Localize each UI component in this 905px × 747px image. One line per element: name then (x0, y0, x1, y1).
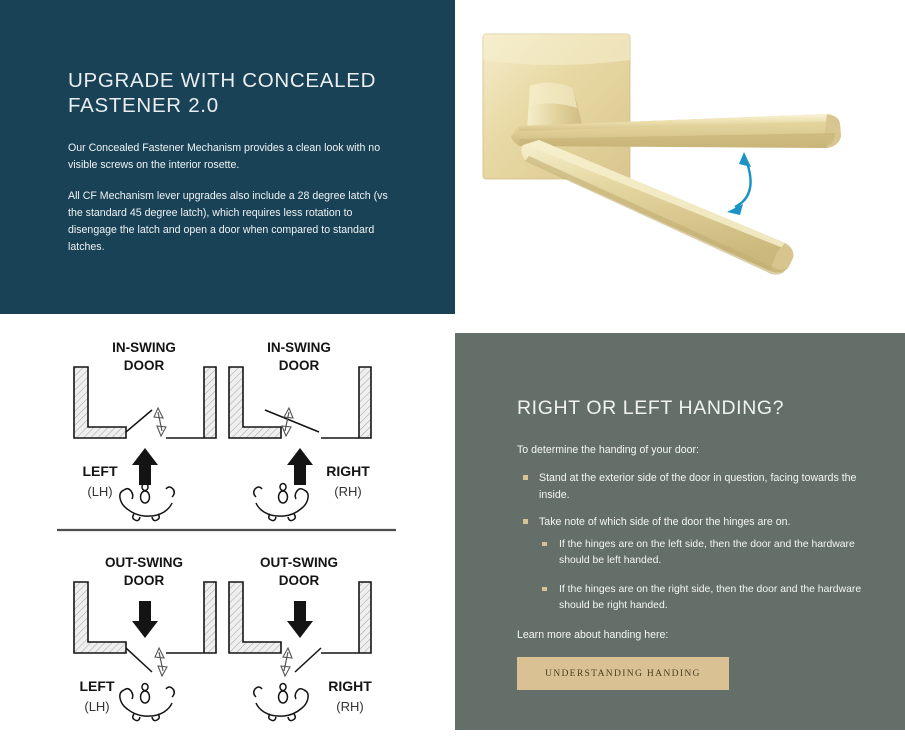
out-swing-right-door-label-line2: DOOR (279, 573, 320, 588)
handing-intro-text: To determine the handing of your door: (517, 442, 862, 458)
concealed-fastener-content: Upgrade with Concealed Fastener 2.0 Our … (68, 68, 398, 256)
diagram-cell-in-swing-left: IN-SWING DOOR LEFT (LH) (74, 340, 216, 521)
in-swing-left-door-label-line2: DOOR (124, 358, 165, 373)
concealed-fastener-panel: Upgrade with Concealed Fastener 2.0 Our … (0, 0, 455, 314)
diagram-cell-out-swing-left: OUT-SWING DOOR LEFT (LH) (74, 555, 216, 721)
handing-substep-item: If the hinges are on the left side, then… (539, 537, 862, 570)
angle-arc-annotation (735, 160, 751, 207)
in-swing-right-door-label-line2: DOOR (279, 358, 320, 373)
handing-diagram-svg: IN-SWING DOOR LEFT (LH) (0, 330, 455, 747)
handing-steps-list: Stand at the exterior side of the door i… (517, 470, 862, 615)
person-icon-out-swing-left (120, 684, 174, 721)
square-bullet-icon (523, 519, 528, 524)
handing-step-text: Take note of which side of the door the … (539, 516, 790, 528)
handing-panel-title: Right or Left Handing? (517, 396, 862, 420)
handing-step-item: Stand at the exterior side of the door i… (517, 470, 862, 503)
person-icon-in-swing-left (120, 484, 174, 521)
in-swing-left-door-label-line1: IN-SWING (112, 340, 176, 355)
out-swing-left-door-label-line1: OUT-SWING (105, 555, 183, 570)
handing-substeps-list: If the hinges are on the left side, then… (539, 537, 862, 615)
square-subbullet-icon (542, 542, 547, 547)
person-icon-out-swing-right (254, 684, 308, 721)
concealed-fastener-paragraph-2: All CF Mechanism lever upgrades also inc… (68, 188, 398, 256)
handing-step-text: Stand at the exterior side of the door i… (539, 472, 856, 501)
out-swing-right-hand-label: RIGHT (328, 678, 372, 694)
learn-more-text: Learn more about handing here: (517, 627, 862, 643)
diagram-cell-in-swing-right: IN-SWING DOOR RIGHT (RH) (229, 340, 371, 521)
in-swing-left-hand-label: LEFT (83, 463, 118, 479)
handing-substep-text: If the hinges are on the left side, then… (559, 539, 855, 567)
out-swing-left-hand-label: LEFT (80, 678, 115, 694)
in-swing-right-hand-label: RIGHT (326, 463, 370, 479)
handing-substep-item: If the hinges are on the right side, the… (539, 582, 862, 615)
door-lever-illustration (455, 0, 905, 314)
handing-step-item: Take note of which side of the door the … (517, 514, 862, 615)
door-lever-photo: 28° (455, 0, 905, 314)
out-swing-right-hand-abbr: (RH) (336, 699, 363, 714)
handing-diagram: IN-SWING DOOR LEFT (LH) (0, 330, 455, 747)
out-swing-left-door-label-line2: DOOR (124, 573, 165, 588)
handing-substep-text: If the hinges are on the right side, the… (559, 584, 861, 612)
handing-info-content: Right or Left Handing? To determine the … (517, 396, 862, 690)
understanding-handing-button[interactable]: Understanding Handing (517, 657, 729, 690)
concealed-fastener-paragraph-1: Our Concealed Fastener Mechanism provide… (68, 140, 398, 174)
lever-rotated (521, 140, 793, 275)
in-swing-right-hand-abbr: (RH) (334, 484, 361, 499)
out-swing-right-door-label-line1: OUT-SWING (260, 555, 338, 570)
handing-info-panel: Right or Left Handing? To determine the … (455, 333, 905, 730)
square-subbullet-icon (542, 587, 547, 592)
square-bullet-icon (523, 475, 528, 480)
in-swing-left-hand-abbr: (LH) (87, 484, 112, 499)
concealed-fastener-title: Upgrade with Concealed Fastener 2.0 (68, 68, 398, 118)
out-swing-left-hand-abbr: (LH) (84, 699, 109, 714)
in-swing-right-door-label-line1: IN-SWING (267, 340, 331, 355)
diagram-cell-out-swing-right: OUT-SWING DOOR RIGHT (RH) (229, 555, 372, 721)
person-icon-in-swing-right (254, 484, 308, 521)
